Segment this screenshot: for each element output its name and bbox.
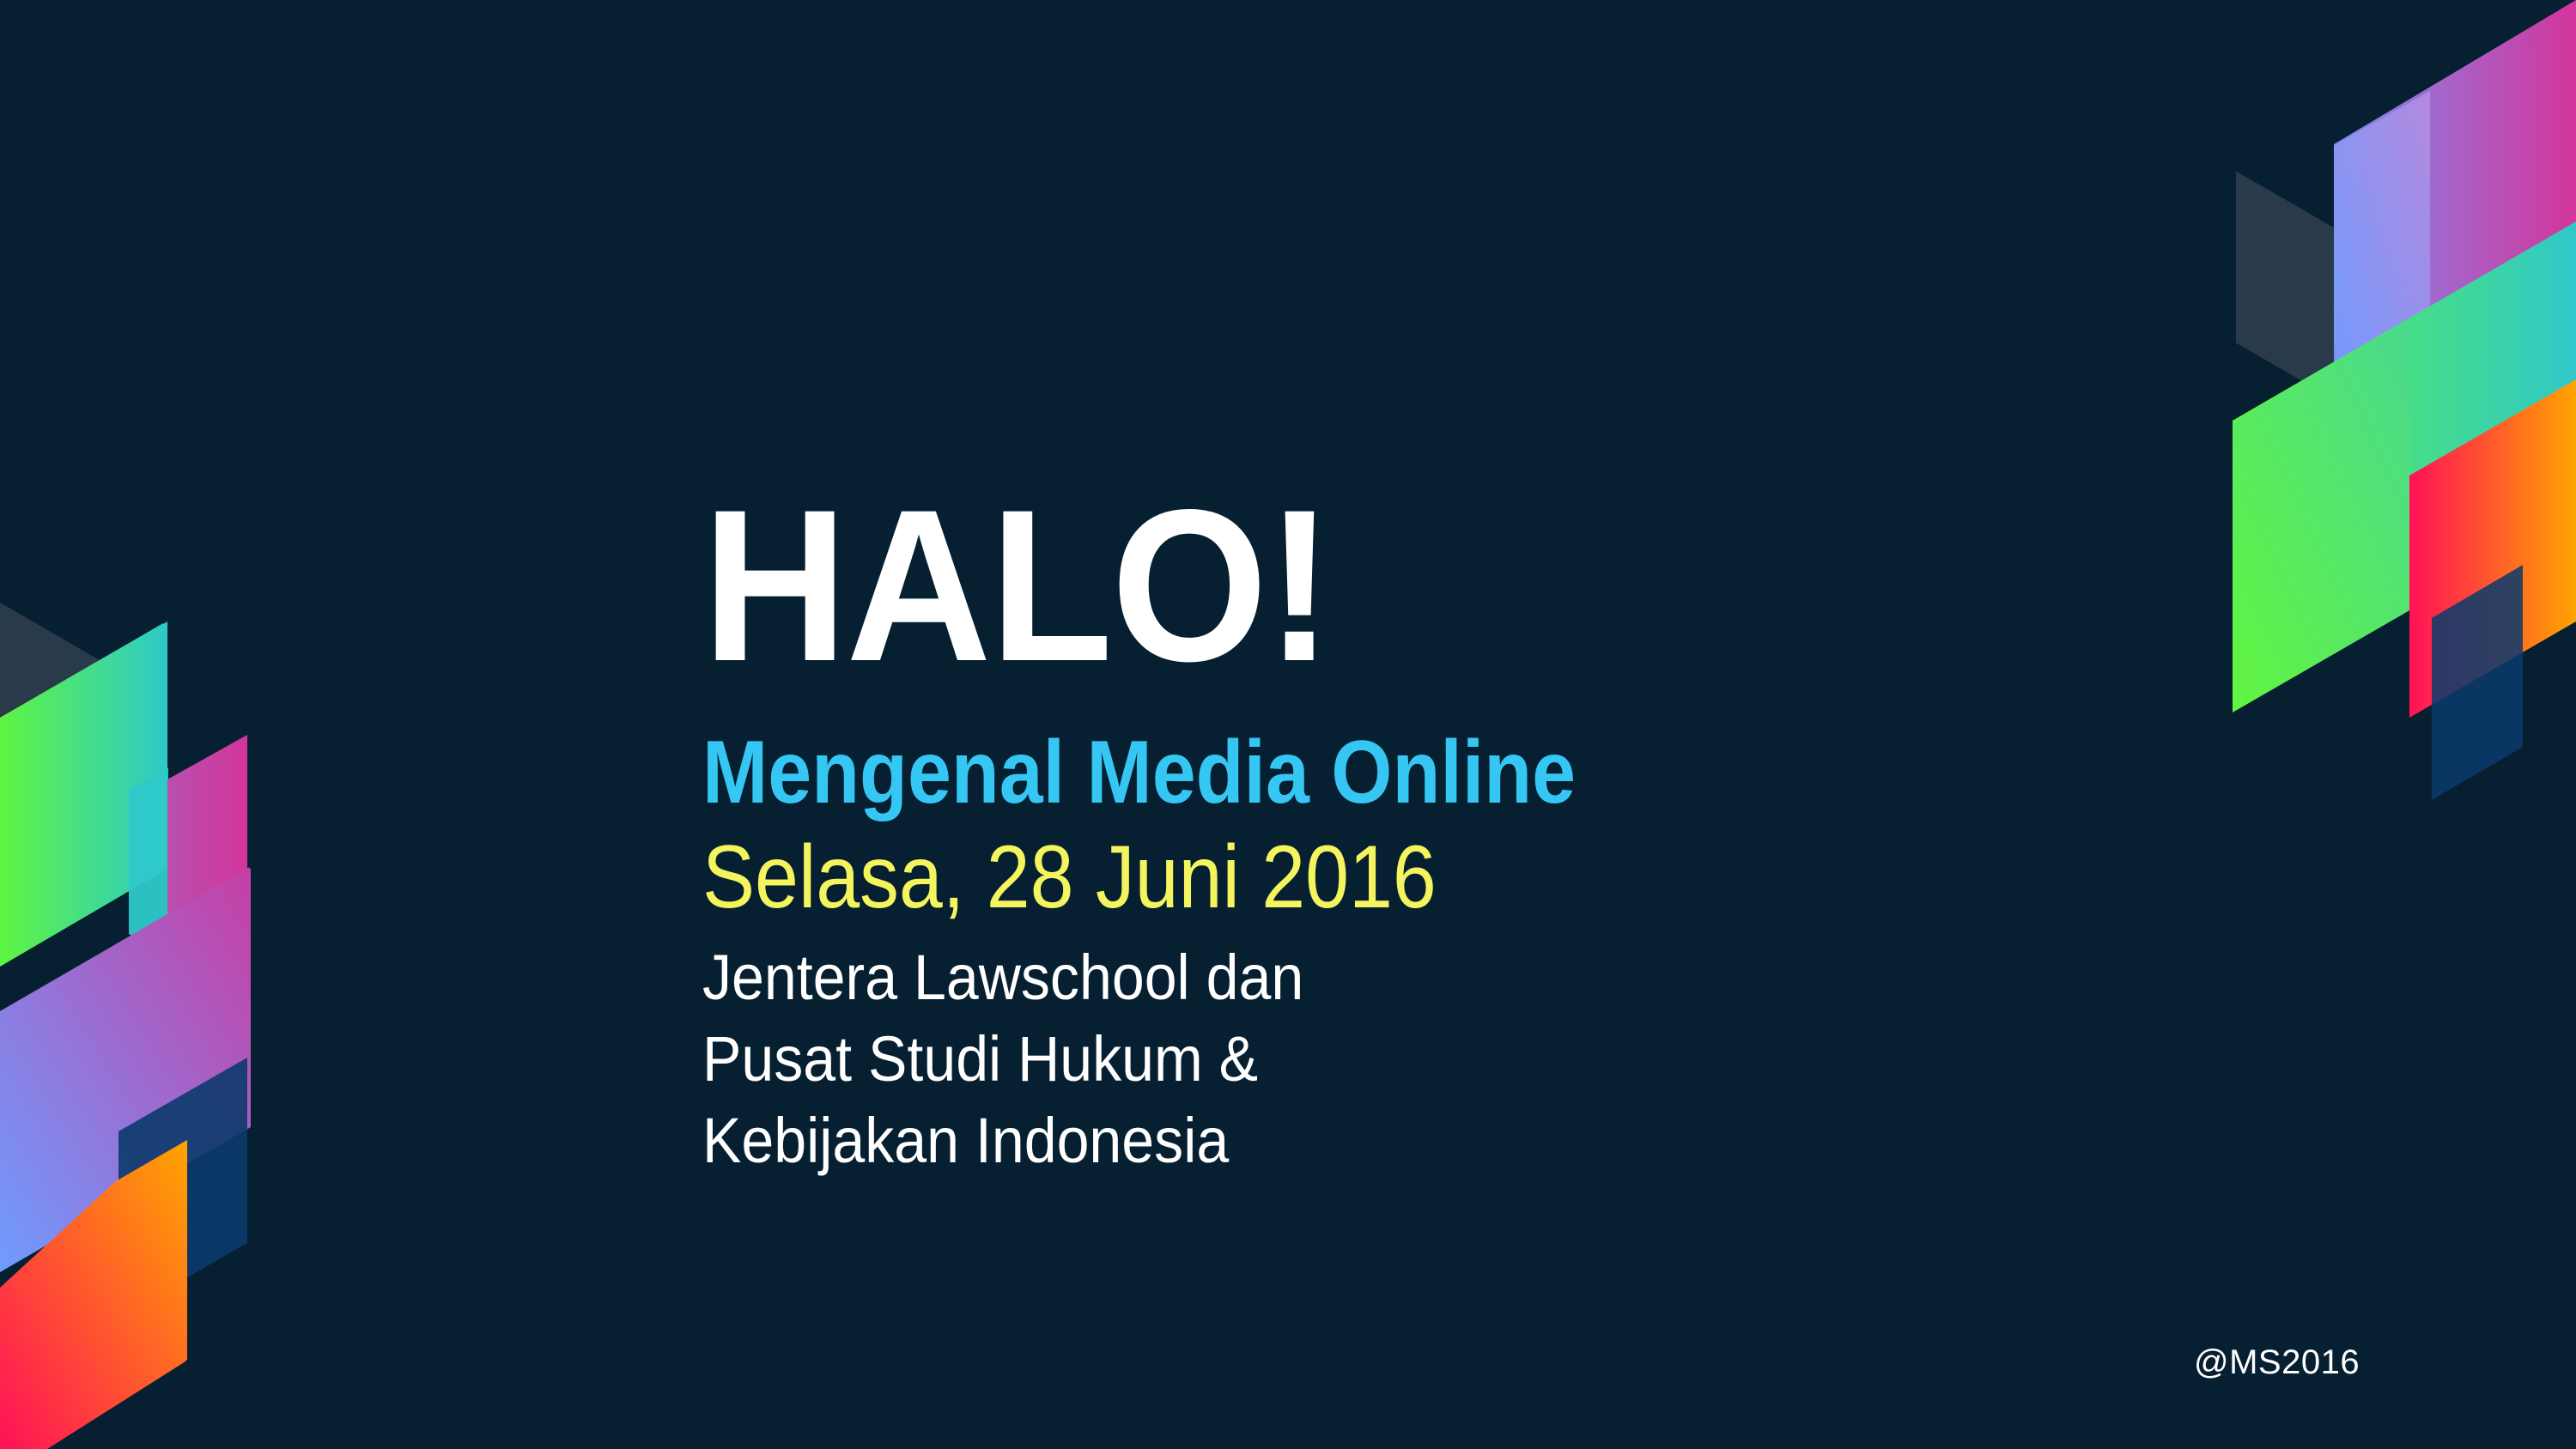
deco-blue-purple-band-l: [0, 867, 249, 1270]
presentation-slide: HALO! Mengenal Media Online Selasa, 28 J…: [0, 0, 2576, 1449]
deco-green-slab-tr: [2233, 319, 2411, 712]
deco-green-teal-band-tr: [2233, 221, 2576, 663]
deco-red-orange-band-l: [0, 1140, 187, 1449]
deco-pink-purple-band-tr: [2334, 0, 2576, 347]
deco-pink-purple-band-tr-2: [2336, 26, 2576, 399]
deco-red-orange-band-tr-2: [2409, 381, 2576, 718]
deco-gray-slab-tr: [2236, 171, 2385, 428]
deco-blue-violet-slab-tr: [2334, 91, 2430, 399]
deco-green-teal-band-l: [0, 623, 163, 965]
deco-pink-slab-l: [167, 735, 247, 997]
slide-text-block: HALO! Mengenal Media Online Selasa, 28 J…: [702, 481, 1990, 1181]
deco-top-right-cluster: [2233, 0, 2576, 800]
deco-navy-slab-tr: [2432, 565, 2523, 800]
slide-date: Selasa, 28 Juni 2016: [702, 824, 1836, 931]
slide-subtitle: Mengenal Media Online: [702, 693, 1836, 824]
slide-organization: Jentera Lawschool dan Pusat Studi Hukum …: [702, 931, 1429, 1181]
deco-red-orange-band-tr: [2409, 379, 2576, 716]
deco-gray-slab-l: [0, 603, 129, 855]
deco-green-teal-band-l-2: [0, 621, 167, 967]
deco-blue-purple-band-l-2: [0, 868, 251, 1272]
watermark: @MS2016: [2194, 1343, 2360, 1382]
deco-teal-slab-l: [129, 767, 168, 955]
page-title: HALO!: [702, 481, 1900, 693]
deco-navy-slab-l: [118, 1058, 247, 1317]
deco-left-cluster: [0, 603, 251, 1449]
deco-red-orange-band-l-2: [0, 1142, 185, 1449]
